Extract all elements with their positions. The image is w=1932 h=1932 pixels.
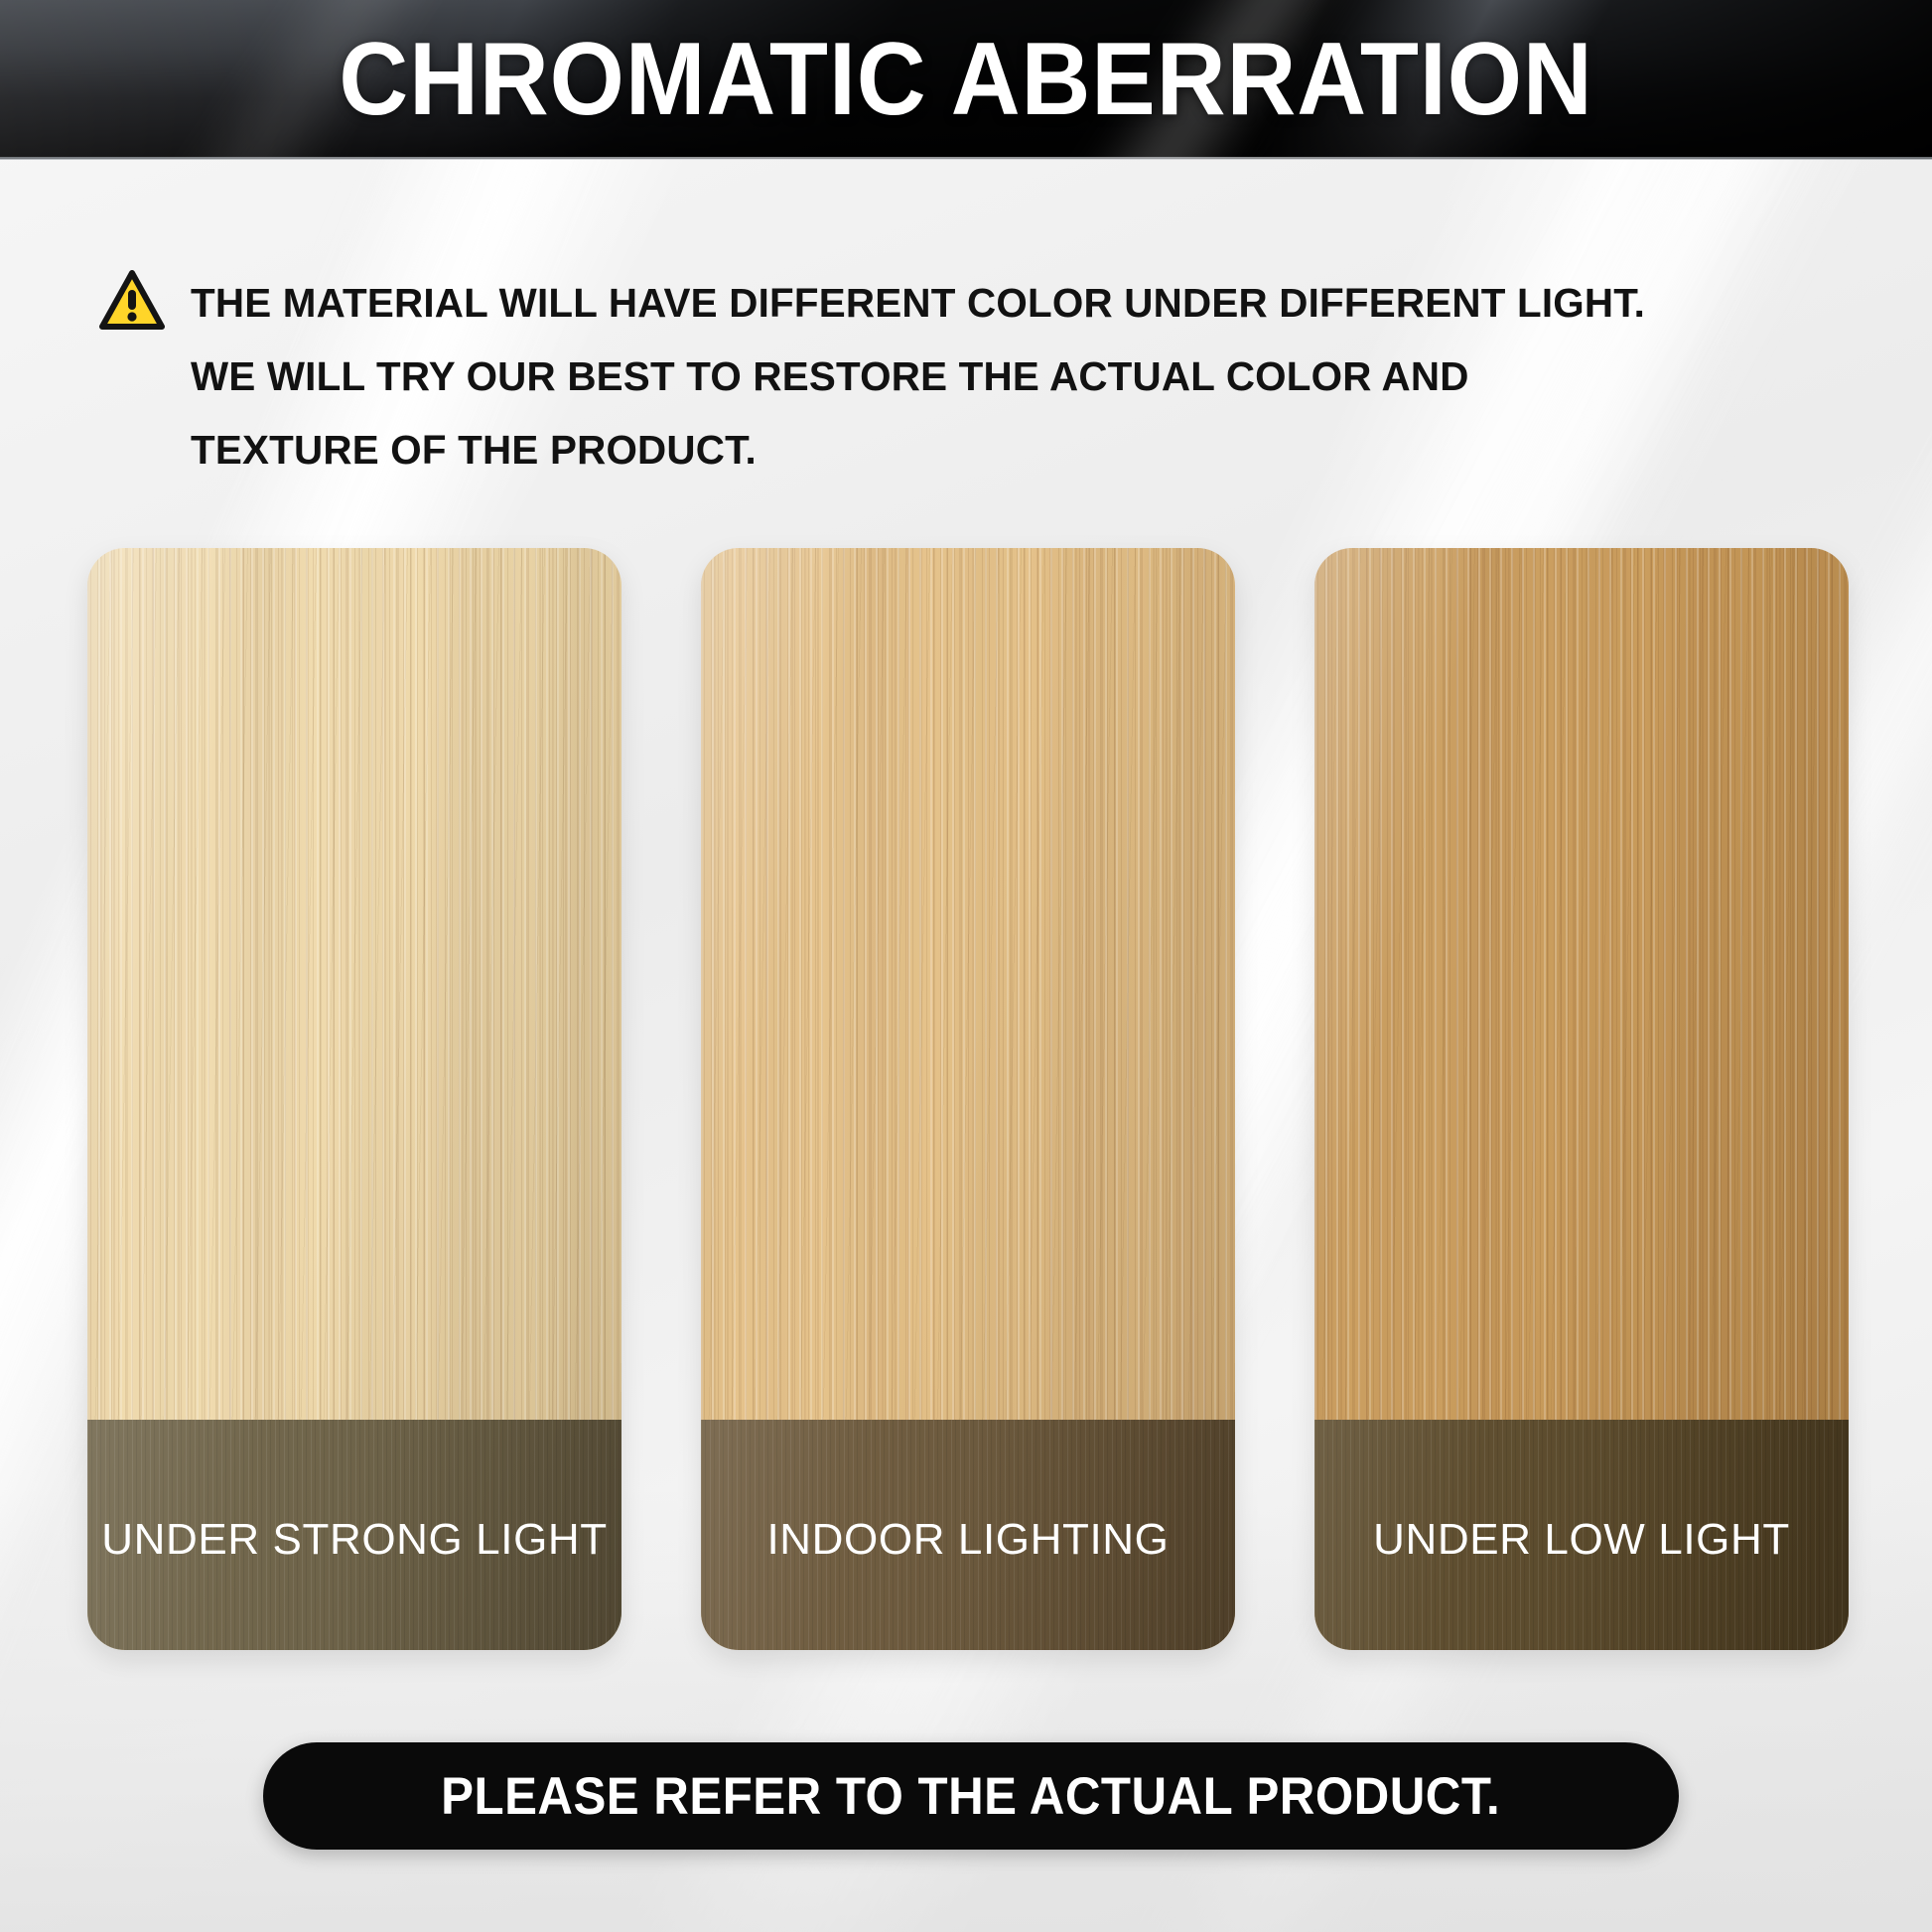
notice-line-2: WE WILL TRY OUR BEST TO RESTORE THE ACTU…	[191, 340, 1645, 413]
notice-block: THE MATERIAL WILL HAVE DIFFERENT COLOR U…	[99, 266, 1817, 486]
notice-line-1: THE MATERIAL WILL HAVE DIFFERENT COLOR U…	[191, 266, 1645, 340]
label-band: UNDER LOW LIGHT	[1314, 1420, 1849, 1650]
swatch-label: UNDER STRONG LIGHT	[87, 1515, 621, 1565]
footer-callout-button[interactable]: PLEASE REFER TO THE ACTUAL PRODUCT.	[263, 1742, 1679, 1850]
label-band: INDOOR LIGHTING	[701, 1420, 1235, 1650]
notice-text: THE MATERIAL WILL HAVE DIFFERENT COLOR U…	[191, 266, 1645, 486]
warning-triangle-icon	[99, 270, 165, 332]
header-banner: CHROMATIC ABERRATION	[0, 0, 1932, 159]
swatch-label: INDOOR LIGHTING	[701, 1515, 1235, 1565]
swatch-card-strong-light[interactable]: UNDER STRONG LIGHT	[87, 548, 621, 1650]
header-underline	[0, 157, 1932, 160]
swatch-card-indoor-lighting[interactable]: INDOOR LIGHTING	[701, 548, 1235, 1650]
label-band: UNDER STRONG LIGHT	[87, 1420, 621, 1650]
notice-line-3: TEXTURE OF THE PRODUCT.	[191, 413, 1645, 486]
swatch-label: UNDER LOW LIGHT	[1314, 1515, 1849, 1565]
footer-callout-label: PLEASE REFER TO THE ACTUAL PRODUCT.	[442, 1766, 1501, 1827]
swatch-card-low-light[interactable]: UNDER LOW LIGHT	[1314, 548, 1849, 1650]
page-title: CHROMATIC ABERRATION	[68, 20, 1864, 139]
swatch-row: UNDER STRONG LIGHT INDOOR LIGHTING UNDER…	[87, 548, 1849, 1650]
